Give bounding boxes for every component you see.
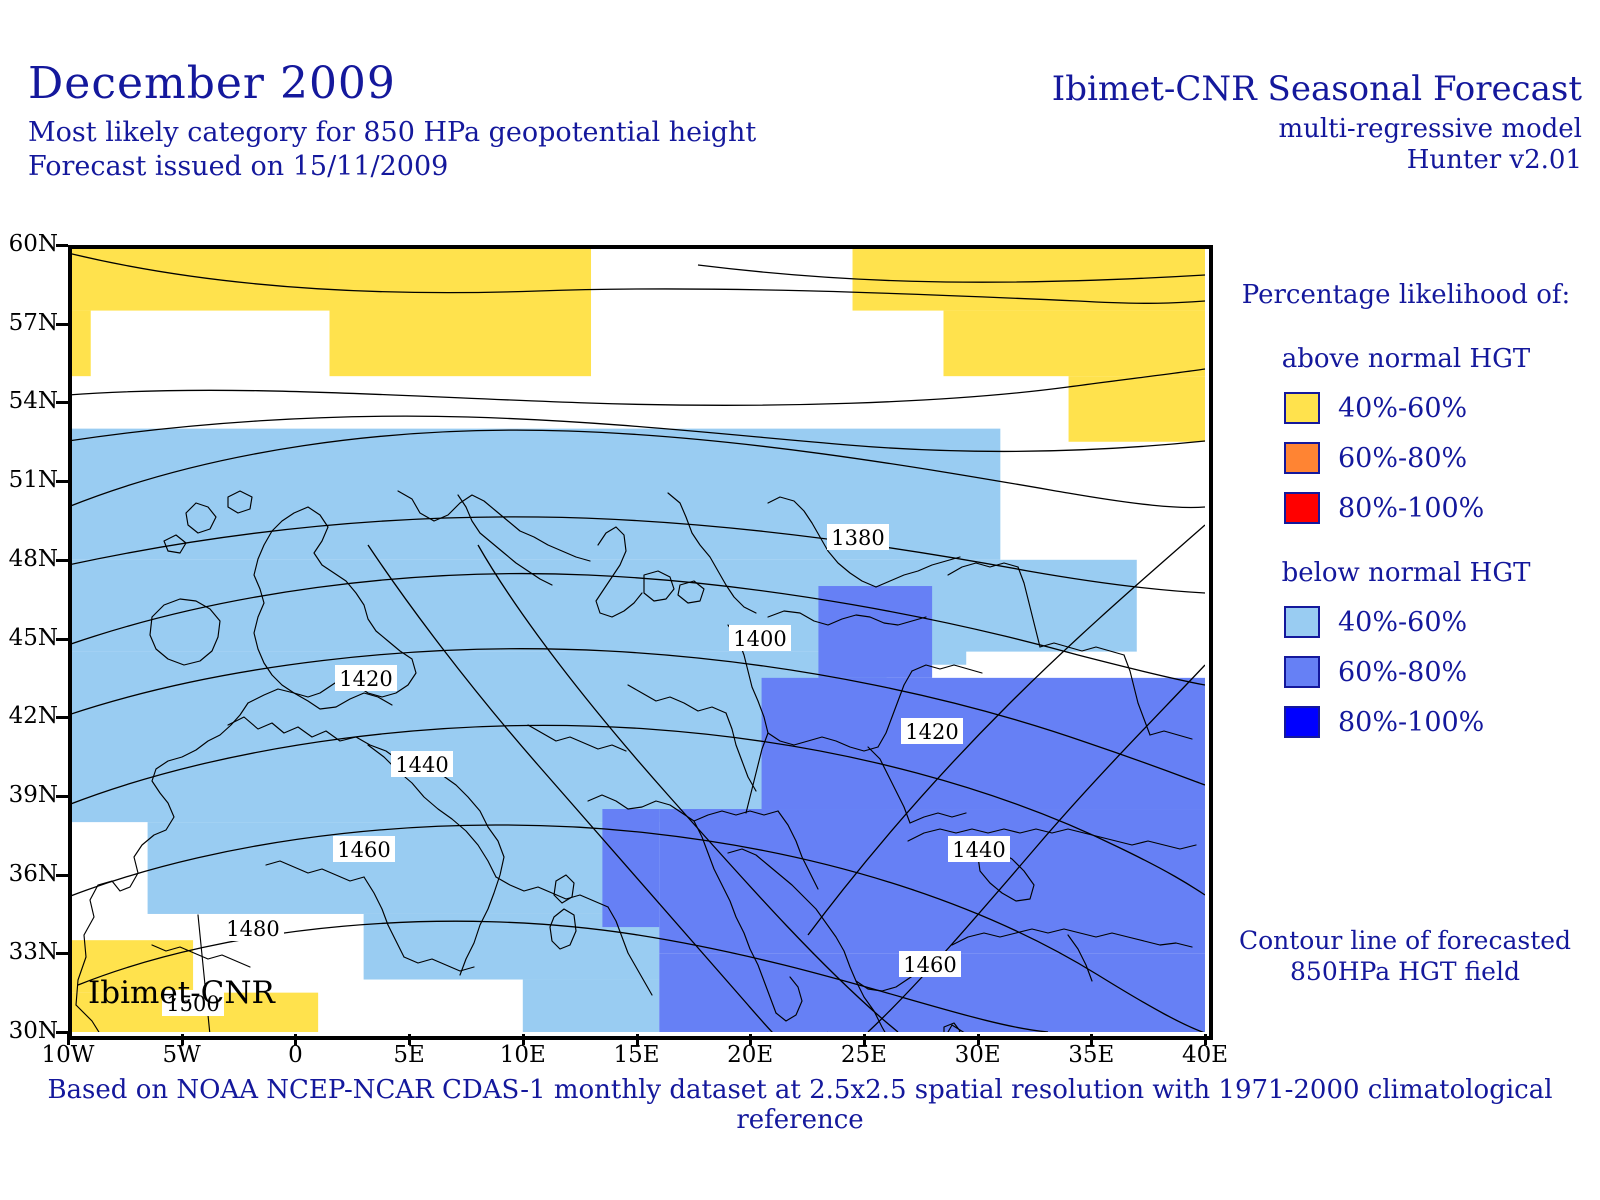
longitude-tick: [749, 1034, 752, 1045]
contour-label: 1400: [733, 627, 786, 651]
latitude-tick-label: 33N: [0, 939, 58, 965]
model-version: Hunter v2.01: [1052, 145, 1582, 176]
contour-note-line2: 850HPa HGT field: [1205, 956, 1600, 987]
legend-swatch: [1284, 492, 1320, 524]
longitude-tick: [636, 1034, 639, 1045]
contour-label: 1420: [905, 720, 958, 744]
probability-cell: [68, 311, 91, 377]
latitude-tick-label: 45N: [0, 625, 58, 651]
legend-above-items: 40%-60%60%-80%80%-100%: [1212, 392, 1600, 524]
probability-cell: [68, 560, 1137, 652]
legend-item-label: 80%-100%: [1338, 493, 1484, 524]
latitude-tick-label: 42N: [0, 703, 58, 729]
longitude-tick: [67, 1034, 70, 1045]
legend-item-below-1: 60%-80%: [1212, 656, 1600, 688]
latitude-tick-label: 60N: [0, 231, 58, 257]
probability-cells: [68, 245, 1205, 1032]
map-svg: 1380140014201420144014401460146014801480…: [68, 245, 1205, 1032]
contour-note: Contour line of forecasted 850HPa HGT fi…: [1205, 925, 1600, 988]
legend-swatch: [1284, 606, 1320, 638]
contour-label: 1420: [339, 667, 392, 691]
probability-cell: [523, 980, 659, 1032]
org-header: Ibimet-CNR Seasonal Forecast multi-regre…: [1052, 72, 1582, 176]
contour-note-line1: Contour line of forecasted: [1205, 925, 1600, 956]
longitude-tick-label: 10W: [33, 1042, 103, 1068]
probability-cell: [818, 586, 932, 678]
legend-item-above-2: 80%-100%: [1212, 492, 1600, 524]
longitude-tick-label: 20E: [715, 1042, 785, 1068]
legend-above-header: above normal HGT: [1212, 344, 1600, 374]
contour-label: 1460: [903, 953, 956, 977]
probability-cell: [1069, 376, 1205, 442]
latitude-tick: [56, 401, 68, 404]
legend-item-below-2: 80%-100%: [1212, 706, 1600, 738]
contour-label: 1440: [395, 753, 448, 777]
legend-item-label: 60%-80%: [1338, 657, 1467, 688]
latitude-tick: [56, 795, 68, 798]
probability-cell: [602, 809, 659, 927]
latitude-tick: [56, 480, 68, 483]
legend-below-items: 40%-60%60%-80%80%-100%: [1212, 606, 1600, 738]
latitude-tick-label: 39N: [0, 782, 58, 808]
legend-swatch: [1284, 706, 1320, 738]
latitude-tick: [56, 244, 68, 247]
longitude-tick: [294, 1034, 297, 1045]
latitude-tick-label: 36N: [0, 861, 58, 887]
legend-swatch: [1284, 442, 1320, 474]
latitude-tick: [56, 874, 68, 877]
longitude-tick: [977, 1034, 980, 1045]
page-title: December 2009: [28, 62, 756, 106]
longitude-tick: [522, 1034, 525, 1045]
forecast-map: 1380140014201420144014401460146014801480…: [68, 245, 1205, 1032]
subtitle-category: Most likely category for 850 HPa geopote…: [28, 116, 756, 150]
contour-label: 1480: [226, 917, 279, 941]
org-title: Ibimet-CNR Seasonal Forecast: [1052, 72, 1582, 106]
longitude-tick-label: 0: [260, 1042, 330, 1068]
probability-cell: [148, 822, 660, 914]
longitude-tick: [181, 1034, 184, 1045]
longitude-tick-label: 10E: [488, 1042, 558, 1068]
legend-item-above-0: 40%-60%: [1212, 392, 1600, 424]
latitude-tick: [56, 952, 68, 955]
title-block: December 2009 Most likely category for 8…: [28, 62, 756, 184]
latitude-tick: [56, 716, 68, 719]
latitude-tick-label: 48N: [0, 546, 58, 572]
watermark-label: Ibimet-CNR: [88, 975, 275, 1011]
longitude-tick: [1090, 1034, 1093, 1045]
probability-cell: [330, 245, 592, 376]
latitude-tick-label: 54N: [0, 388, 58, 414]
latitude-tick-label: 57N: [0, 310, 58, 336]
longitude-tick-label: 30E: [943, 1042, 1013, 1068]
contour-label: 1460: [337, 838, 390, 862]
longitude-tick: [1204, 1034, 1207, 1045]
longitude-tick: [408, 1034, 411, 1045]
longitude-tick-label: 35E: [1056, 1042, 1126, 1068]
footer-caption: Based on NOAA NCEP-NCAR CDAS-1 monthly d…: [0, 1075, 1600, 1135]
legend-swatch: [1284, 656, 1320, 688]
longitude-tick-label: 5E: [374, 1042, 444, 1068]
legend-item-label: 40%-60%: [1338, 607, 1467, 638]
subtitle-issued: Forecast issued on 15/11/2009: [28, 150, 756, 184]
latitude-tick-label: 30N: [0, 1018, 58, 1044]
longitude-tick-label: 25E: [829, 1042, 899, 1068]
contour-label: 1440: [952, 838, 1005, 862]
model-name: multi-regressive model: [1052, 114, 1582, 145]
contour-label: 1380: [831, 526, 884, 550]
latitude-tick: [56, 638, 68, 641]
longitude-tick-label: 40E: [1170, 1042, 1240, 1068]
longitude-tick: [863, 1034, 866, 1045]
latitude-tick: [56, 323, 68, 326]
legend-item-label: 40%-60%: [1338, 393, 1467, 424]
legend-item-label: 60%-80%: [1338, 443, 1467, 474]
legend-item-below-0: 40%-60%: [1212, 606, 1600, 638]
legend-item-label: 80%-100%: [1338, 707, 1484, 738]
legend-title: Percentage likelihood of:: [1212, 280, 1600, 310]
legend-below-header: below normal HGT: [1212, 558, 1600, 588]
probability-cell: [943, 311, 1205, 377]
latitude-tick: [56, 559, 68, 562]
probability-cell: [762, 678, 1205, 809]
legend-panel: Percentage likelihood of: above normal H…: [1212, 280, 1600, 738]
latitude-tick-label: 51N: [0, 467, 58, 493]
longitude-tick-label: 5W: [147, 1042, 217, 1068]
legend-item-above-1: 60%-80%: [1212, 442, 1600, 474]
legend-swatch: [1284, 392, 1320, 424]
longitude-tick-label: 15E: [602, 1042, 672, 1068]
